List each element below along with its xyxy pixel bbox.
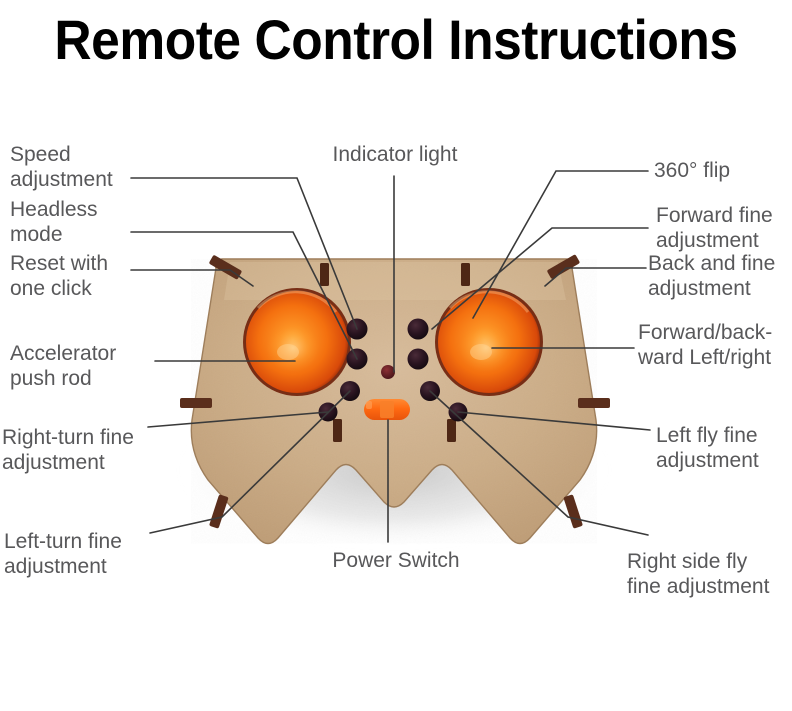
label-right-turn-fine-adjustment: Right-turn fine adjustment xyxy=(2,425,134,475)
slot-top-right xyxy=(461,263,470,286)
button-mid-right xyxy=(408,349,429,370)
label-left-turn-fine-adjustment: Left-turn fine adjustment xyxy=(4,529,122,579)
label-speed-adjustment: Speed adjustment xyxy=(10,142,113,192)
label-left-fly-fine-adjustment: Left fly fine adjustment xyxy=(656,423,759,473)
label-forward-fine-adjustment: Forward fine adjustment xyxy=(656,203,773,253)
instruction-diagram-page: Remote Control Instructions xyxy=(0,0,792,711)
joystick-left[interactable] xyxy=(243,288,351,396)
tab-edge-right xyxy=(578,398,610,408)
slot-top-left xyxy=(320,263,329,286)
label-indicator-light: Indicator light xyxy=(325,142,465,167)
label-right-side-fly-fine-adjustment: Right side fly fine adjustment xyxy=(627,549,769,599)
joystick-right[interactable] xyxy=(435,288,543,396)
power-switch-control[interactable] xyxy=(364,399,410,420)
tab-edge-left xyxy=(180,398,212,408)
slot-inner-right xyxy=(447,419,456,442)
label-headless-mode: Headless mode xyxy=(10,197,98,247)
label-360-flip: 360° flip xyxy=(654,158,730,183)
label-forward-backward-left-right: Forward/back- ward Left/right xyxy=(638,320,772,370)
button-upper-right xyxy=(408,319,429,340)
label-reset-with-one-click: Reset with one click xyxy=(10,251,108,301)
label-accelerator-push-rod: Accelerator push rod xyxy=(10,341,116,391)
label-power-switch: Power Switch xyxy=(316,548,476,573)
label-back-and-fine-adjustment: Back and fine adjustment xyxy=(648,251,775,301)
indicator-led xyxy=(381,365,395,379)
slot-inner-left xyxy=(333,419,342,442)
